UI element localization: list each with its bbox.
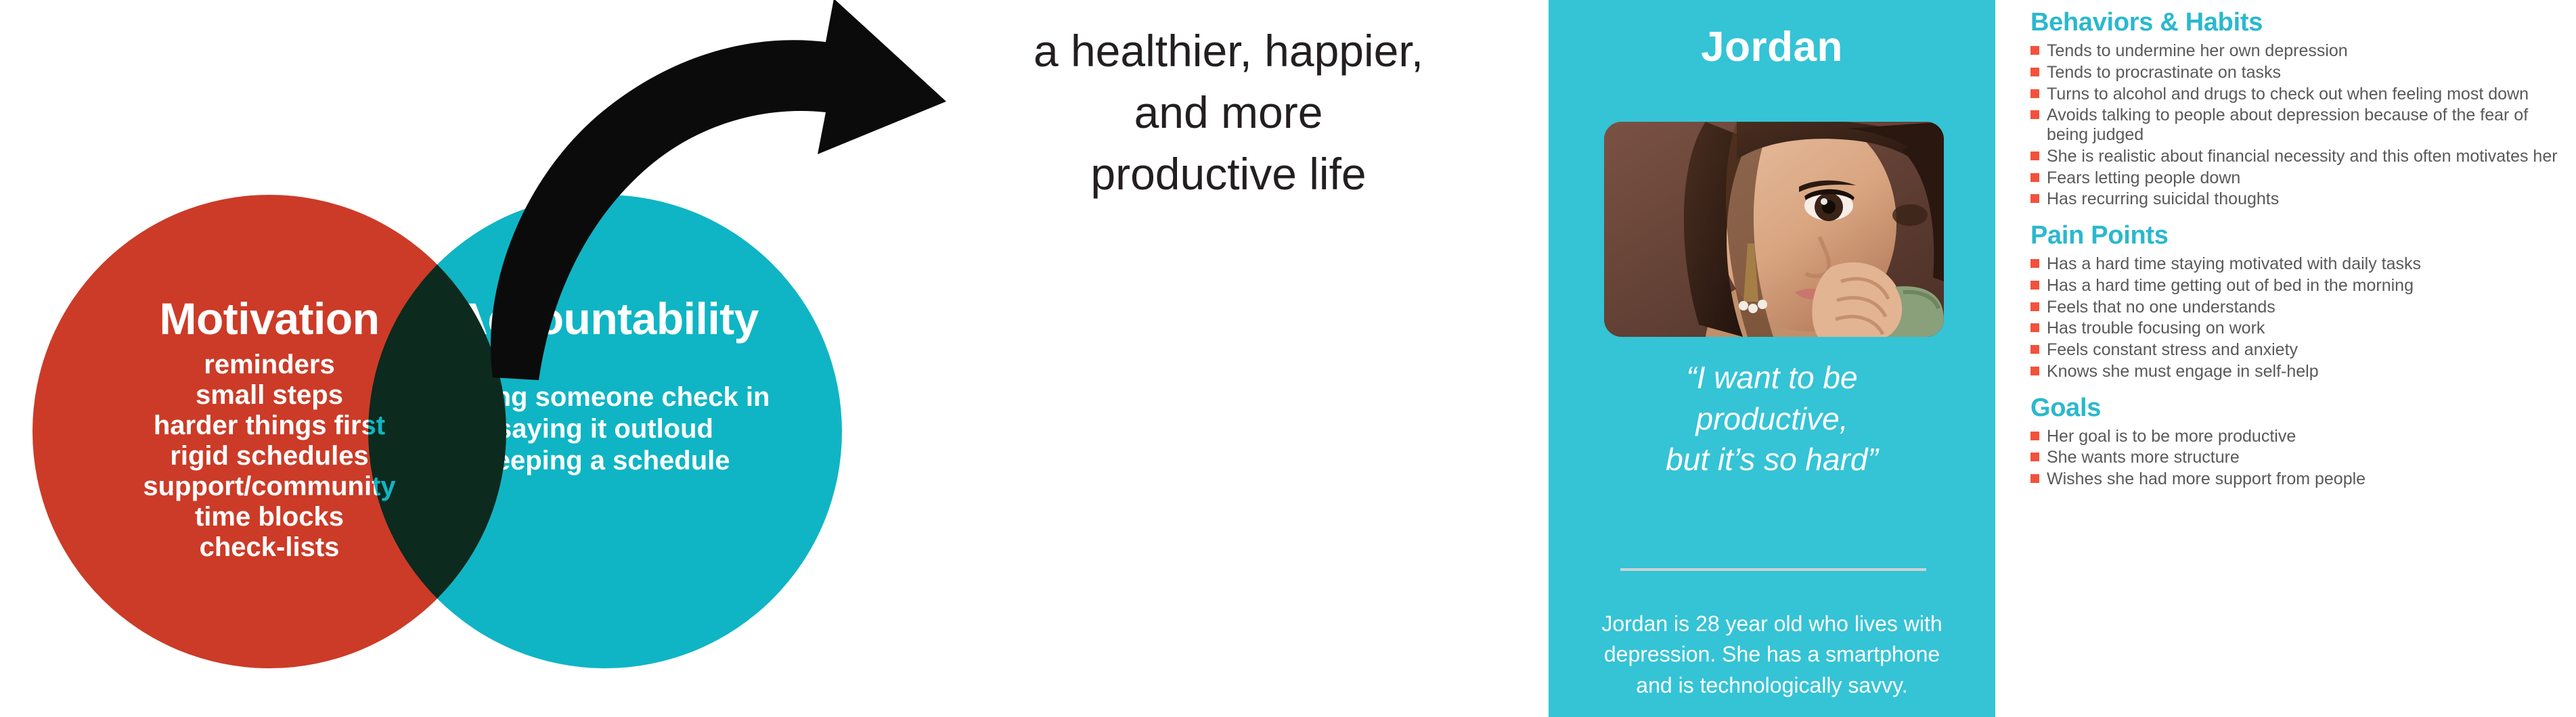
section-heading: Goals: [2030, 394, 2569, 423]
list-item: Tends to undermine her own depression: [2030, 41, 2569, 61]
description-line: Jordan is 28 year old who lives with: [1584, 609, 1960, 639]
section-heading: Behaviors & Habits: [2030, 8, 2569, 37]
quote-line: but it’s so hard”: [1578, 439, 1966, 480]
list-item-label: Has trouble focusing on work: [2047, 319, 2265, 338]
outcome-line: a healthier, happier,: [948, 20, 1509, 82]
list-item: She is realistic about financial necessi…: [2030, 147, 2569, 166]
venn-item: reminders: [143, 351, 395, 378]
list-item-label: Her goal is to be more productive: [2047, 427, 2296, 446]
list-item-label: Knows she must engage in self-help: [2047, 362, 2319, 381]
list-item-label: Has recurring suicidal thoughts: [2047, 189, 2279, 208]
persona-photo: [1604, 122, 1944, 337]
list-item-label: Feels that no one understands: [2047, 298, 2275, 317]
persona-card: Jordan: [1549, 0, 1995, 717]
section-pain-points: Pain Points Has a hard time staying moti…: [2030, 221, 2569, 381]
quote-line: “I want to be: [1578, 357, 1966, 398]
list-item: Avoids talking to people about depressio…: [2030, 106, 2569, 145]
bullet-icon: [2030, 302, 2039, 311]
venn-item: harder things first: [143, 412, 395, 439]
list-item: Knows she must engage in self-help: [2030, 362, 2569, 381]
persona-details-panel: Behaviors & Habits Tends to undermine he…: [2024, 0, 2576, 717]
bullet-icon: [2030, 110, 2039, 119]
description-line: depression. She has a smartphone: [1584, 639, 1960, 670]
bullet-icon: [2030, 259, 2039, 268]
list-item-label: Feels constant stress and anxiety: [2047, 340, 2298, 359]
bullet-icon: [2030, 323, 2039, 332]
list-item-label: Has a hard time staying motivated with d…: [2047, 254, 2421, 273]
section-behaviors-habits: Behaviors & Habits Tends to undermine he…: [2030, 8, 2569, 209]
list-item: Feels constant stress and anxiety: [2030, 340, 2569, 360]
bullet-icon: [2030, 453, 2039, 461]
list-item: Wishes she had more support from people: [2030, 469, 2569, 489]
list-item: Fears letting people down: [2030, 168, 2569, 188]
bullet-icon: [2030, 194, 2039, 203]
bullet-icon: [2030, 46, 2039, 55]
venn-item: rigid schedules: [143, 442, 395, 469]
outcome-text: a healthier, happier, and more productiv…: [948, 20, 1509, 205]
list-item-label: Tends to undermine her own depression: [2047, 41, 2348, 60]
venn-diagram: Motivation reminders small steps harder …: [0, 0, 1549, 717]
bullet-icon: [2030, 345, 2039, 354]
list-item-label: Fears letting people down: [2047, 168, 2240, 187]
outcome-line: and more: [948, 82, 1509, 143]
list-item: Turns to alcohol and drugs to check out …: [2030, 85, 2569, 104]
bullet-icon: [2030, 367, 2039, 375]
quote-line: productive,: [1578, 398, 1966, 440]
list-item-label: Wishes she had more support from people: [2047, 469, 2366, 488]
list-item-label: She is realistic about financial necessi…: [2047, 147, 2558, 166]
list-item-label: Turns to alcohol and drugs to check out …: [2047, 85, 2529, 103]
venn-item: time blocks: [143, 503, 395, 530]
list-item: She wants more structure: [2030, 448, 2569, 467]
bullet-icon: [2030, 68, 2039, 76]
list-item: Has recurring suicidal thoughts: [2030, 189, 2569, 209]
persona-name: Jordan: [1549, 23, 1995, 71]
venn-item: support/community: [143, 473, 395, 500]
bullet-icon: [2030, 173, 2039, 182]
pain-points-list: Has a hard time staying motivated with d…: [2030, 254, 2569, 381]
list-item: Feels that no one understands: [2030, 298, 2569, 317]
curved-arrow-icon: [379, 0, 988, 386]
list-item-label: Tends to procrastinate on tasks: [2047, 63, 2281, 82]
bullet-icon: [2030, 89, 2039, 98]
bullet-icon: [2030, 152, 2039, 160]
divider: [1620, 568, 1926, 571]
list-item: Has trouble focusing on work: [2030, 319, 2569, 338]
slide-canvas: Motivation reminders small steps harder …: [0, 0, 2576, 717]
venn-item: check-lists: [143, 534, 395, 561]
description-line: and is technologically savvy.: [1584, 670, 1960, 701]
section-heading: Pain Points: [2030, 221, 2569, 250]
list-item-label: She wants more structure: [2047, 448, 2240, 467]
behaviors-list: Tends to undermine her own depression Te…: [2030, 41, 2569, 209]
goals-list: Her goal is to be more productive She wa…: [2030, 427, 2569, 489]
venn-item: small steps: [143, 381, 395, 409]
venn-title-motivation: Motivation: [160, 296, 380, 341]
persona-description: Jordan is 28 year old who lives with dep…: [1584, 609, 1960, 701]
venn-list-motivation: reminders small steps harder things firs…: [143, 348, 395, 564]
list-item: Has a hard time staying motivated with d…: [2030, 254, 2569, 274]
persona-quote: “I want to be productive, but it’s so ha…: [1578, 357, 1966, 480]
bullet-icon: [2030, 474, 2039, 483]
list-item-label: Avoids talking to people about depressio…: [2047, 106, 2528, 144]
list-item: Has a hard time getting out of bed in th…: [2030, 276, 2569, 296]
list-item: Tends to procrastinate on tasks: [2030, 63, 2569, 83]
bullet-icon: [2030, 281, 2039, 290]
list-item-label: Has a hard time getting out of bed in th…: [2047, 276, 2414, 295]
bullet-icon: [2030, 432, 2039, 440]
list-item: Her goal is to be more productive: [2030, 427, 2569, 446]
outcome-line: productive life: [948, 143, 1509, 205]
section-goals: Goals Her goal is to be more productive …: [2030, 394, 2569, 489]
